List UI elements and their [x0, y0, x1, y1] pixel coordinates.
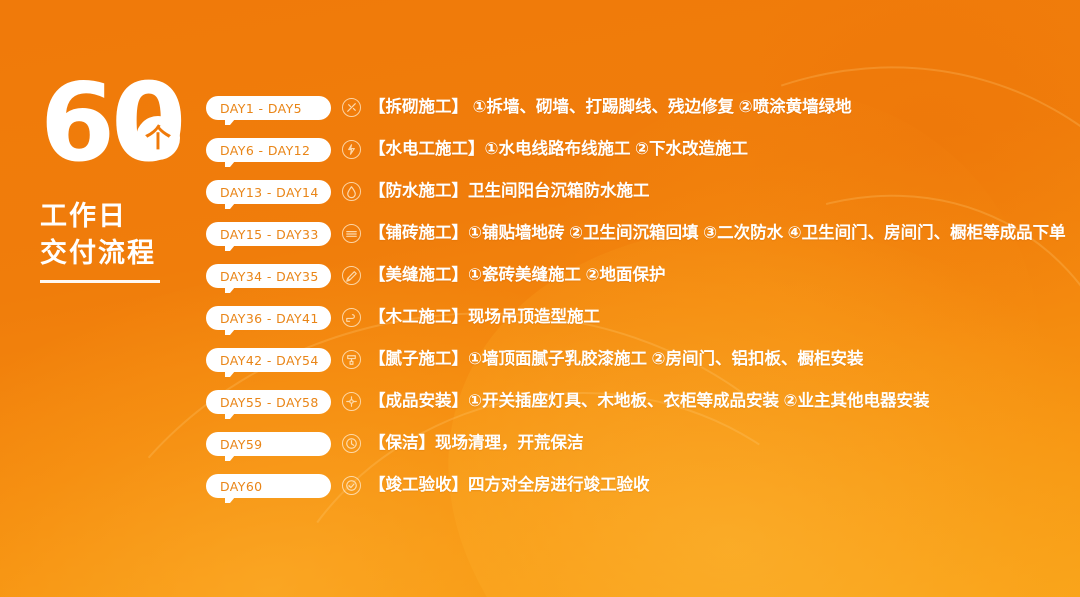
day-range-label: DAY36 - DAY41 [220, 311, 319, 326]
day-range-label: DAY59 [220, 437, 263, 452]
hero-block: 60 个 工作日 交付流程 [40, 74, 210, 283]
demolition-icon [342, 98, 361, 117]
grouting-icon [342, 266, 361, 285]
timeline-row[interactable]: DAY1 - DAY5 【拆砌施工】 ①拆墙、砌墙、打踢脚线、残边修复 ②喷涂黄… [206, 96, 1070, 138]
hero-subtitle-line1: 工作日 [40, 198, 210, 235]
day-range-pill[interactable]: DAY59 [206, 432, 331, 456]
timeline-list: DAY1 - DAY5 【拆砌施工】 ①拆墙、砌墙、打踢脚线、残边修复 ②喷涂黄… [206, 96, 1070, 516]
timeline-row[interactable]: DAY36 - DAY41 【木工施工】现场吊顶造型施工 [206, 306, 1070, 348]
day-range-label: DAY60 [220, 479, 263, 494]
stage-description: 【拆砌施工】 ①拆墙、砌墙、打踢脚线、残边修复 ②喷涂黄墙绿地 [369, 96, 852, 118]
stage-description: 【防水施工】卫生间阳台沉箱防水施工 [369, 180, 650, 202]
day-range-pill[interactable]: DAY60 [206, 474, 331, 498]
hero-unit-badge: 个 [136, 116, 180, 160]
timeline-row[interactable]: DAY42 - DAY54 【腻子施工】①墙顶面腻子乳胶漆施工 ②房间门、铝扣板… [206, 348, 1070, 390]
day-range-pill[interactable]: DAY13 - DAY14 [206, 180, 331, 204]
timeline-row[interactable]: DAY15 - DAY33 【铺砖施工】①铺贴墙地砖 ②卫生间沉箱回填 ③二次防… [206, 222, 1070, 264]
electrical-plumbing-icon [342, 140, 361, 159]
tiling-icon [342, 224, 361, 243]
stage-description: 【木工施工】现场吊顶造型施工 [369, 306, 600, 328]
timeline-row[interactable]: DAY34 - DAY35 【美缝施工】①瓷砖美缝施工 ②地面保护 [206, 264, 1070, 306]
day-range-pill[interactable]: DAY34 - DAY35 [206, 264, 331, 288]
hero-underline [40, 280, 160, 283]
stage-description: 【水电工施工】①水电线路布线施工 ②下水改造施工 [369, 138, 748, 160]
waterproof-icon [342, 182, 361, 201]
stage-description: 【铺砖施工】①铺贴墙地砖 ②卫生间沉箱回填 ③二次防水 ④卫生间门、房间门、橱柜… [369, 222, 1066, 244]
day-range-label: DAY55 - DAY58 [220, 395, 319, 410]
day-range-label: DAY15 - DAY33 [220, 227, 319, 242]
day-range-pill[interactable]: DAY55 - DAY58 [206, 390, 331, 414]
hero-subtitle-line2: 交付流程 [40, 235, 210, 272]
day-range-pill[interactable]: DAY1 - DAY5 [206, 96, 331, 120]
day-range-pill[interactable]: DAY42 - DAY54 [206, 348, 331, 372]
hero-subtitle: 工作日 交付流程 [40, 198, 210, 272]
stage-description: 【美缝施工】①瓷砖美缝施工 ②地面保护 [369, 264, 666, 286]
day-range-label: DAY42 - DAY54 [220, 353, 319, 368]
poster-root: 60 个 工作日 交付流程 DAY1 - DAY5 【拆砌施工】 ①拆墙、砌墙、… [0, 0, 1080, 597]
timeline-row[interactable]: DAY60 【竣工验收】四方对全房进行竣工验收 [206, 474, 1070, 516]
stage-description: 【成品安装】①开关插座灯具、木地板、衣柜等成品安装 ②业主其他电器安装 [369, 390, 930, 412]
stage-description: 【腻子施工】①墙顶面腻子乳胶漆施工 ②房间门、铝扣板、橱柜安装 [369, 348, 864, 370]
day-range-label: DAY6 - DAY12 [220, 143, 310, 158]
stage-description: 【竣工验收】四方对全房进行竣工验收 [369, 474, 650, 496]
carpentry-icon [342, 308, 361, 327]
hero-number-wrap: 60 个 [40, 74, 210, 184]
fixtures-install-icon [342, 392, 361, 411]
day-range-pill[interactable]: DAY15 - DAY33 [206, 222, 331, 246]
day-range-label: DAY1 - DAY5 [220, 101, 302, 116]
timeline-row[interactable]: DAY55 - DAY58 【成品安装】①开关插座灯具、木地板、衣柜等成品安装 … [206, 390, 1070, 432]
timeline-row[interactable]: DAY13 - DAY14 【防水施工】卫生间阳台沉箱防水施工 [206, 180, 1070, 222]
timeline-row[interactable]: DAY59 【保洁】现场清理，开荒保洁 [206, 432, 1070, 474]
timeline-row[interactable]: DAY6 - DAY12 【水电工施工】①水电线路布线施工 ②下水改造施工 [206, 138, 1070, 180]
cleaning-icon [342, 434, 361, 453]
painting-icon [342, 350, 361, 369]
hero-number: 60 [40, 74, 210, 174]
final-inspection-icon [342, 476, 361, 495]
day-range-label: DAY13 - DAY14 [220, 185, 319, 200]
day-range-pill[interactable]: DAY6 - DAY12 [206, 138, 331, 162]
day-range-pill[interactable]: DAY36 - DAY41 [206, 306, 331, 330]
day-range-label: DAY34 - DAY35 [220, 269, 319, 284]
stage-description: 【保洁】现场清理，开荒保洁 [369, 432, 584, 454]
